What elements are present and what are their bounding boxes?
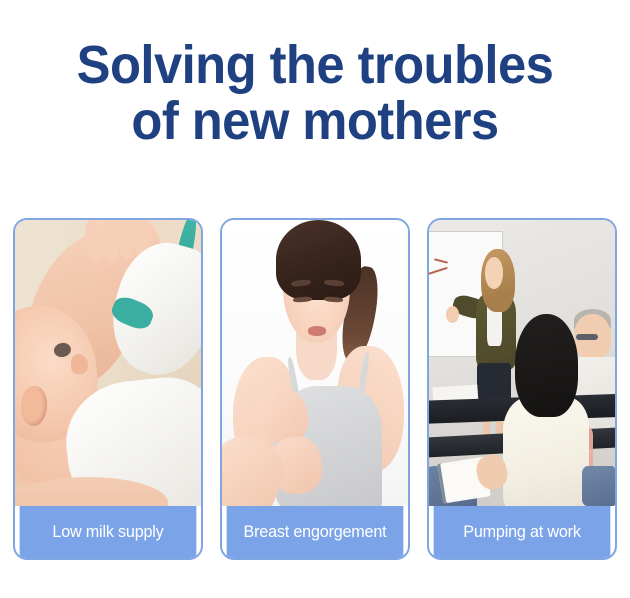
headline-line-2: of new mothers xyxy=(19,94,611,150)
card-caption-3: Pumping at work xyxy=(434,506,611,558)
photo-woman-checking-breast xyxy=(222,220,408,506)
problem-cards-row: Low milk supply Breast engorgement xyxy=(13,218,617,560)
photo-office-meeting xyxy=(429,220,615,506)
card-caption-1: Low milk supply xyxy=(20,506,197,558)
card-breast-engorgement[interactable]: Breast engorgement xyxy=(220,218,410,560)
card-pumping-at-work[interactable]: Pumping at work xyxy=(427,218,617,560)
headline-line-1: Solving the troubles xyxy=(19,38,611,94)
card-caption-2: Breast engorgement xyxy=(227,506,404,558)
card-low-milk-supply[interactable]: Low milk supply xyxy=(13,218,203,560)
photo-breastfeeding-baby xyxy=(15,220,201,506)
page-title: Solving the troubles of new mothers xyxy=(19,0,611,149)
